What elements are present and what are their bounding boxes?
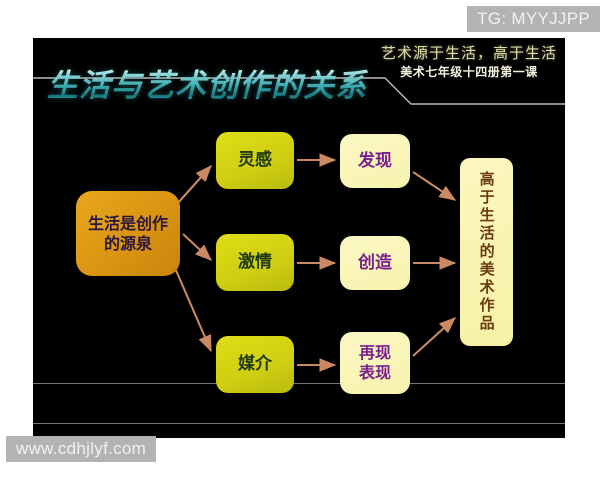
flowchart: 生活是创作的源泉 灵感 激情 媒介 发现 创造 再现 表现 高于生活的美术作品 [33, 116, 565, 383]
presentation-slide: 生活与艺术创作的关系 艺术源于生活，高于生活 美术七年级十四册第一课 [33, 38, 565, 438]
node-expression[interactable]: 再现 表现 [340, 332, 410, 394]
site-watermark-badge: www.cdhjlyf.com [6, 436, 156, 462]
edge-expression-to-final [413, 318, 455, 356]
edge-source-to-passion [183, 234, 211, 260]
node-passion[interactable]: 激情 [216, 234, 294, 291]
slide-rule-upper [33, 383, 565, 384]
node-expression-line2: 表现 [359, 363, 391, 383]
node-source[interactable]: 生活是创作的源泉 [76, 191, 180, 276]
edge-source-to-medium [175, 268, 211, 351]
edge-source-to-inspiration [177, 166, 211, 204]
node-medium[interactable]: 媒介 [216, 336, 294, 393]
slide-header: 生活与艺术创作的关系 艺术源于生活，高于生活 美术七年级十四册第一课 [33, 38, 565, 116]
slide-rule-lower [33, 423, 565, 424]
page-title: 生活与艺术创作的关系 [47, 60, 407, 106]
telegram-watermark-badge: TG: MYYJJPP [467, 6, 600, 32]
site-watermark-text: www.cdhjlyf.com [16, 439, 146, 459]
slide-subtitle-main: 艺术源于生活，高于生活 [381, 44, 557, 63]
telegram-watermark-text: TG: MYYJJPP [477, 9, 590, 29]
node-discovery[interactable]: 发现 [340, 134, 410, 188]
node-creation[interactable]: 创造 [340, 236, 410, 290]
node-inspiration[interactable]: 灵感 [216, 132, 294, 189]
node-expression-line1: 再现 [359, 343, 391, 363]
slide-subtitle-group: 艺术源于生活，高于生活 美术七年级十四册第一课 [381, 44, 557, 81]
node-final-artwork[interactable]: 高于生活的美术作品 [460, 158, 513, 346]
slide-subtitle-sub: 美术七年级十四册第一课 [381, 64, 557, 81]
edge-discovery-to-final [413, 172, 455, 200]
